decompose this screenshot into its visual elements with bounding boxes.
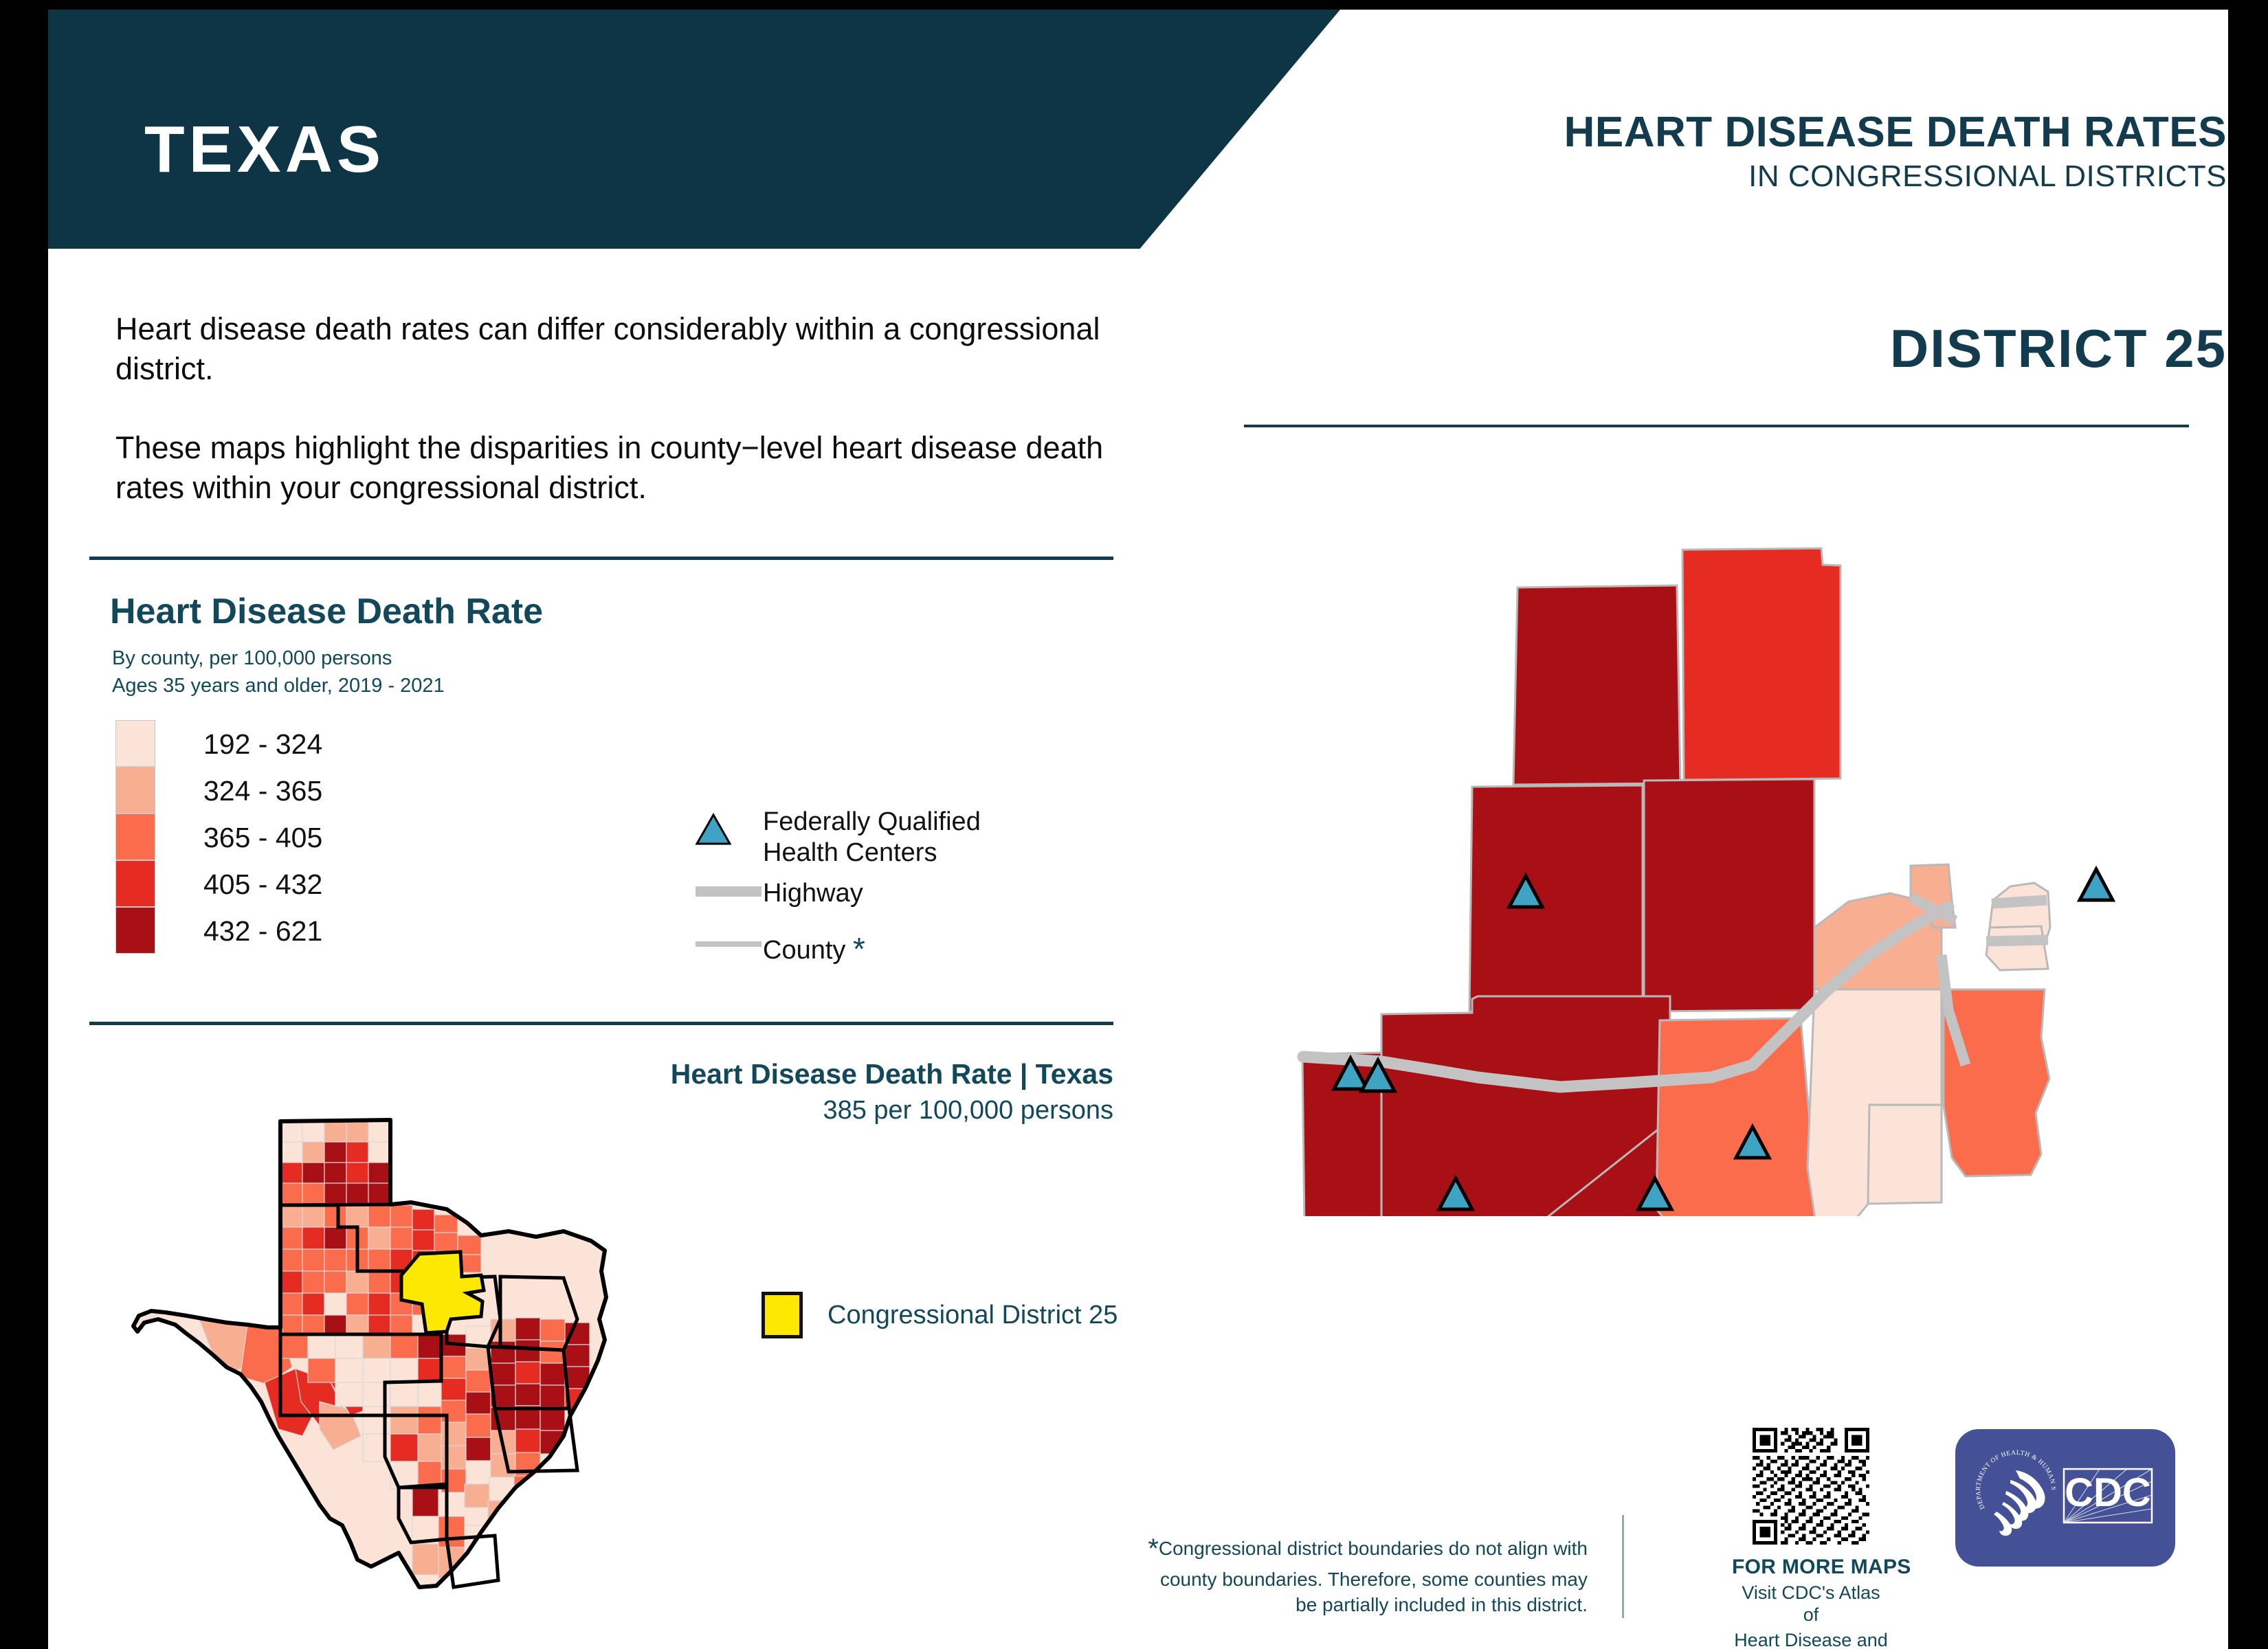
legend-swatch-3 — [115, 860, 155, 907]
highway-line-ne3 — [1992, 900, 2047, 904]
intro-paragraph-1: Heart disease death rates can differ con… — [115, 309, 1112, 388]
cdc-hhs-logo: DEPARTMENT OF HEALTH & HUMAN SERVICES·US… — [1955, 1429, 2175, 1567]
legend-swatch-4 — [115, 907, 155, 954]
state-map-title: Heart Disease Death Rate | Texas — [646, 1058, 1113, 1090]
divider-above-legend — [89, 557, 1113, 560]
legend-swatch-2 — [115, 814, 155, 860]
legend-fqhc-label: Federally Qualified Health Centers — [763, 807, 981, 868]
legend-county-label: County * — [763, 930, 865, 967]
state-map-value: 385 per 100,000 persons — [646, 1095, 1113, 1128]
legend-swatch-1 — [115, 767, 155, 814]
fqhc-marker-7 — [2080, 869, 2113, 900]
header-title-block: HEART DISEASE DEATH RATES IN CONGRESSION… — [1564, 110, 2227, 195]
district-county-e2 — [1868, 1105, 1942, 1204]
legend-title: Heart Disease Death Rate — [110, 591, 543, 632]
county-line-icon — [696, 941, 761, 947]
highway-line-icon — [696, 886, 761, 897]
highway-line-ne2 — [1986, 940, 2048, 941]
header-title-sub: IN CONGRESSIONAL DISTRICTS — [1564, 159, 2227, 195]
more-maps-line1: Visit CDC's Atlas of — [1732, 1582, 1890, 1626]
district-county-ne3 — [1986, 926, 2048, 970]
texas-state-map[interactable] — [124, 1113, 653, 1594]
legend-subtitle-line2: Ages 35 years and older, 2019 - 2021 — [112, 672, 445, 699]
legend-label-3: 405 - 432 — [203, 868, 322, 901]
infographic-page: TEXAS HEART DISEASE DEATH RATES IN CONGR… — [0, 0, 2268, 1649]
legend-label-4: 432 - 621 — [203, 915, 322, 947]
county-footnote-marker: * — [853, 931, 865, 967]
footnote-marker: * — [1148, 1534, 1159, 1564]
legend-label-1: 324 - 365 — [203, 775, 322, 807]
cdc-logo-icon: DEPARTMENT OF HEALTH & HUMAN SERVICES·US… — [1955, 1429, 2175, 1567]
header-title-main: HEART DISEASE DEATH RATES — [1564, 110, 2227, 155]
divider-below-legend — [89, 1022, 1113, 1025]
qr-block[interactable]: FOR MORE MAPS Visit CDC's Atlas of Heart… — [1732, 1428, 1890, 1649]
district-key-label: Congressional District 25 — [827, 1301, 1118, 1330]
legend-fqhc-label-line1: Federally Qualified — [763, 807, 981, 838]
intro-paragraph-2: These maps highlight the disparities in … — [115, 428, 1112, 507]
more-maps-line2: Heart Disease and Stroke — [1732, 1629, 1890, 1649]
divider-under-district-title — [1244, 425, 2189, 427]
legend-swatch-0 — [115, 720, 155, 767]
intro-text: Heart disease death rates can differ con… — [115, 309, 1112, 507]
qr-code-icon[interactable] — [1753, 1428, 1869, 1545]
legend-label-0: 192 - 324 — [203, 728, 322, 761]
footnote: *Congressional district boundaries do no… — [1148, 1531, 1588, 1618]
legend-label-2: 365 - 405 — [203, 822, 322, 854]
district-key-swatch — [761, 1292, 803, 1338]
district-county-w1 — [1469, 785, 1643, 1011]
footnote-text: Congressional district boundaries do not… — [1159, 1538, 1588, 1615]
legend-subtitle: By county, per 100,000 persons Ages 35 y… — [112, 644, 445, 699]
state-map-heading: Heart Disease Death Rate | Texas 385 per… — [646, 1058, 1113, 1128]
legend-subtitle-line1: By county, per 100,000 persons — [112, 644, 445, 672]
legend-color-scale — [115, 720, 155, 954]
district-map[interactable] — [1271, 515, 2179, 1216]
cdc-logo-text: CDC — [2065, 1470, 2151, 1515]
district-key: Congressional District 25 — [761, 1292, 1118, 1338]
legend-county-text: County — [763, 936, 845, 965]
footer-divider — [1622, 1515, 1624, 1618]
legend-fqhc-label-line2: Health Centers — [763, 838, 981, 868]
page-title: DISTRICT 25 — [1890, 317, 2227, 380]
district-county-s2 — [1656, 1018, 1814, 1216]
district-county-c1 — [1644, 779, 1814, 1011]
district-county-n2 — [1682, 548, 1841, 780]
district-county-e4 — [1944, 989, 2049, 1176]
state-title: TEXAS — [144, 117, 385, 183]
legend-highway-label: Highway — [763, 878, 863, 909]
fqhc-triangle-icon — [694, 812, 733, 845]
more-maps-heading: FOR MORE MAPS — [1732, 1556, 1890, 1579]
district-county-n1 — [1513, 585, 1680, 785]
